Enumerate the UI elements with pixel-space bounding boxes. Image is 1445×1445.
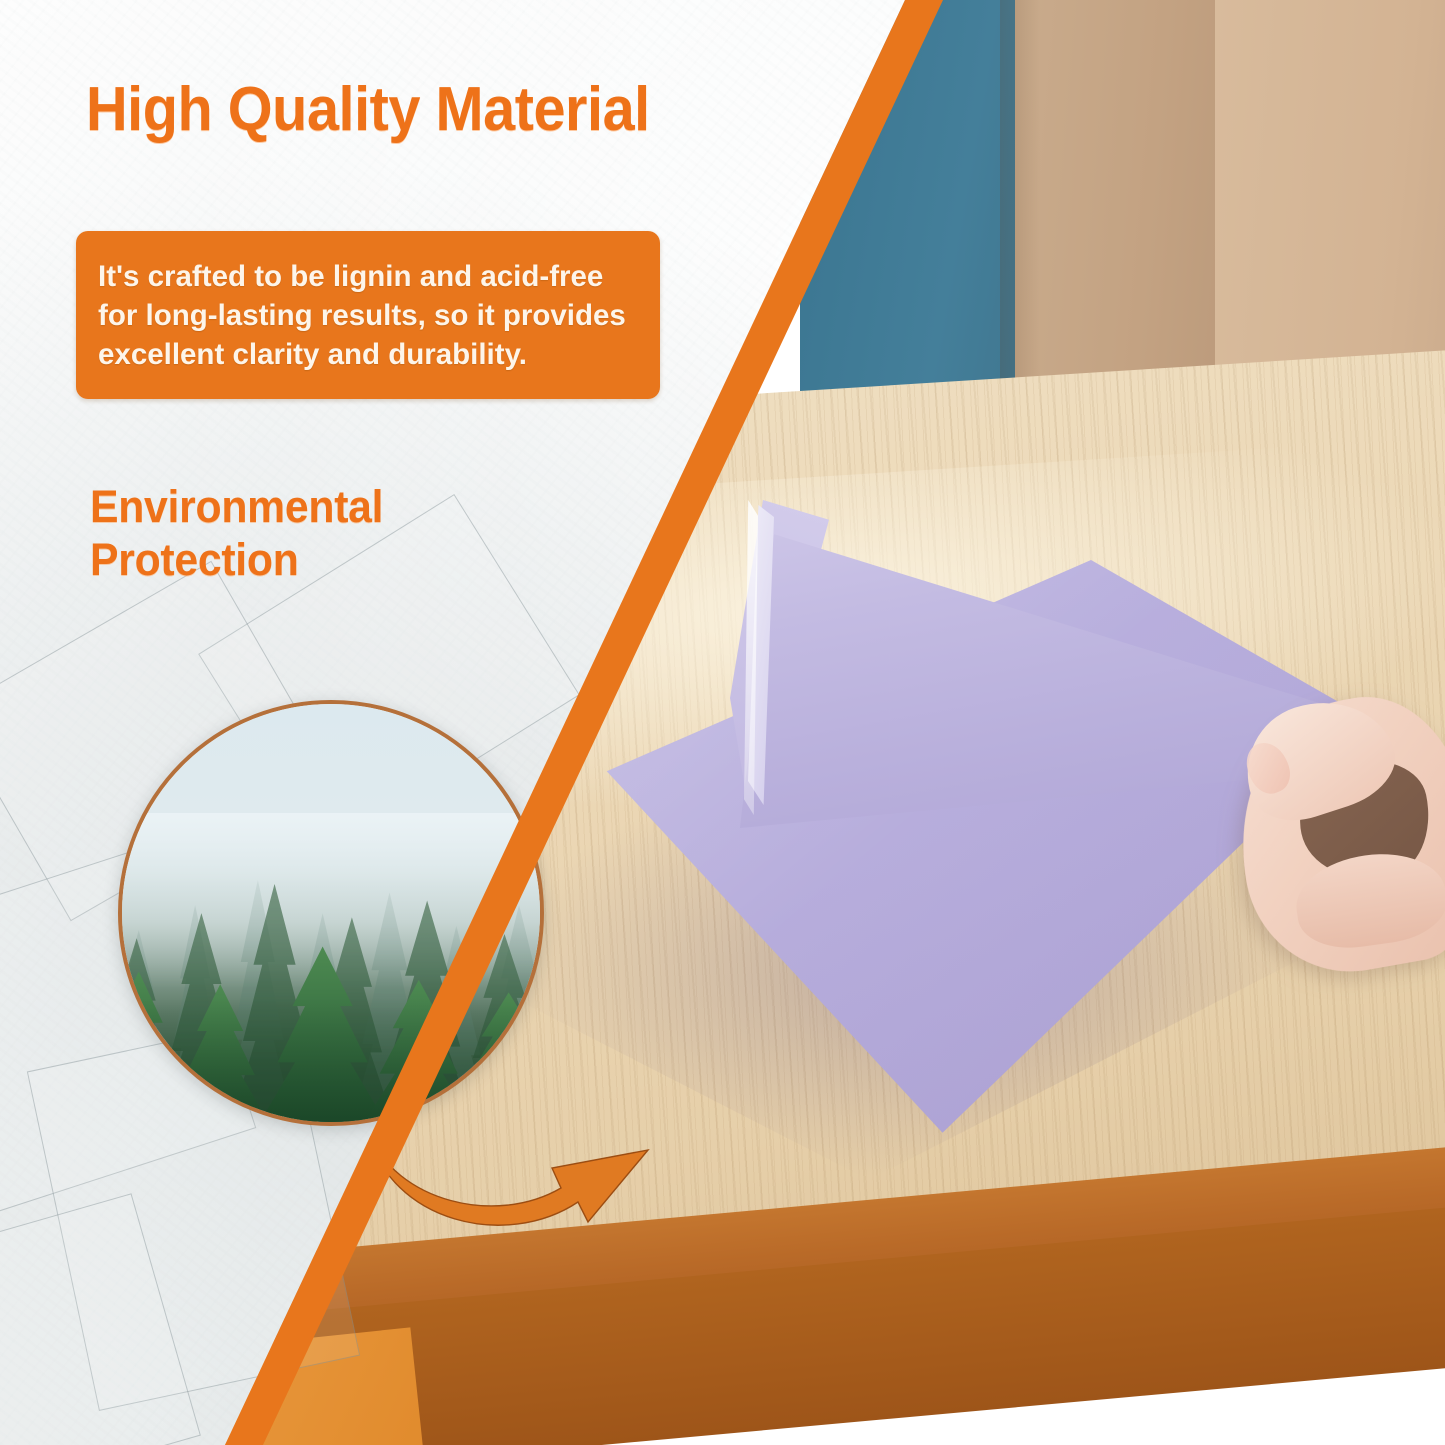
subtitle-line-2: Protection	[90, 533, 383, 586]
forest-bottom-shade	[122, 997, 540, 1122]
feature-callout-box: It's crafted to be lignin and acid-free …	[76, 231, 660, 399]
infographic-canvas: High Quality Material It's crafted to be…	[0, 0, 1445, 1445]
feature-callout-text: It's crafted to be lignin and acid-free …	[98, 257, 634, 375]
subtitle-line-1: Environmental	[90, 480, 383, 533]
page-title: High Quality Material	[86, 74, 650, 145]
section-subtitle: Environmental Protection	[90, 480, 383, 586]
